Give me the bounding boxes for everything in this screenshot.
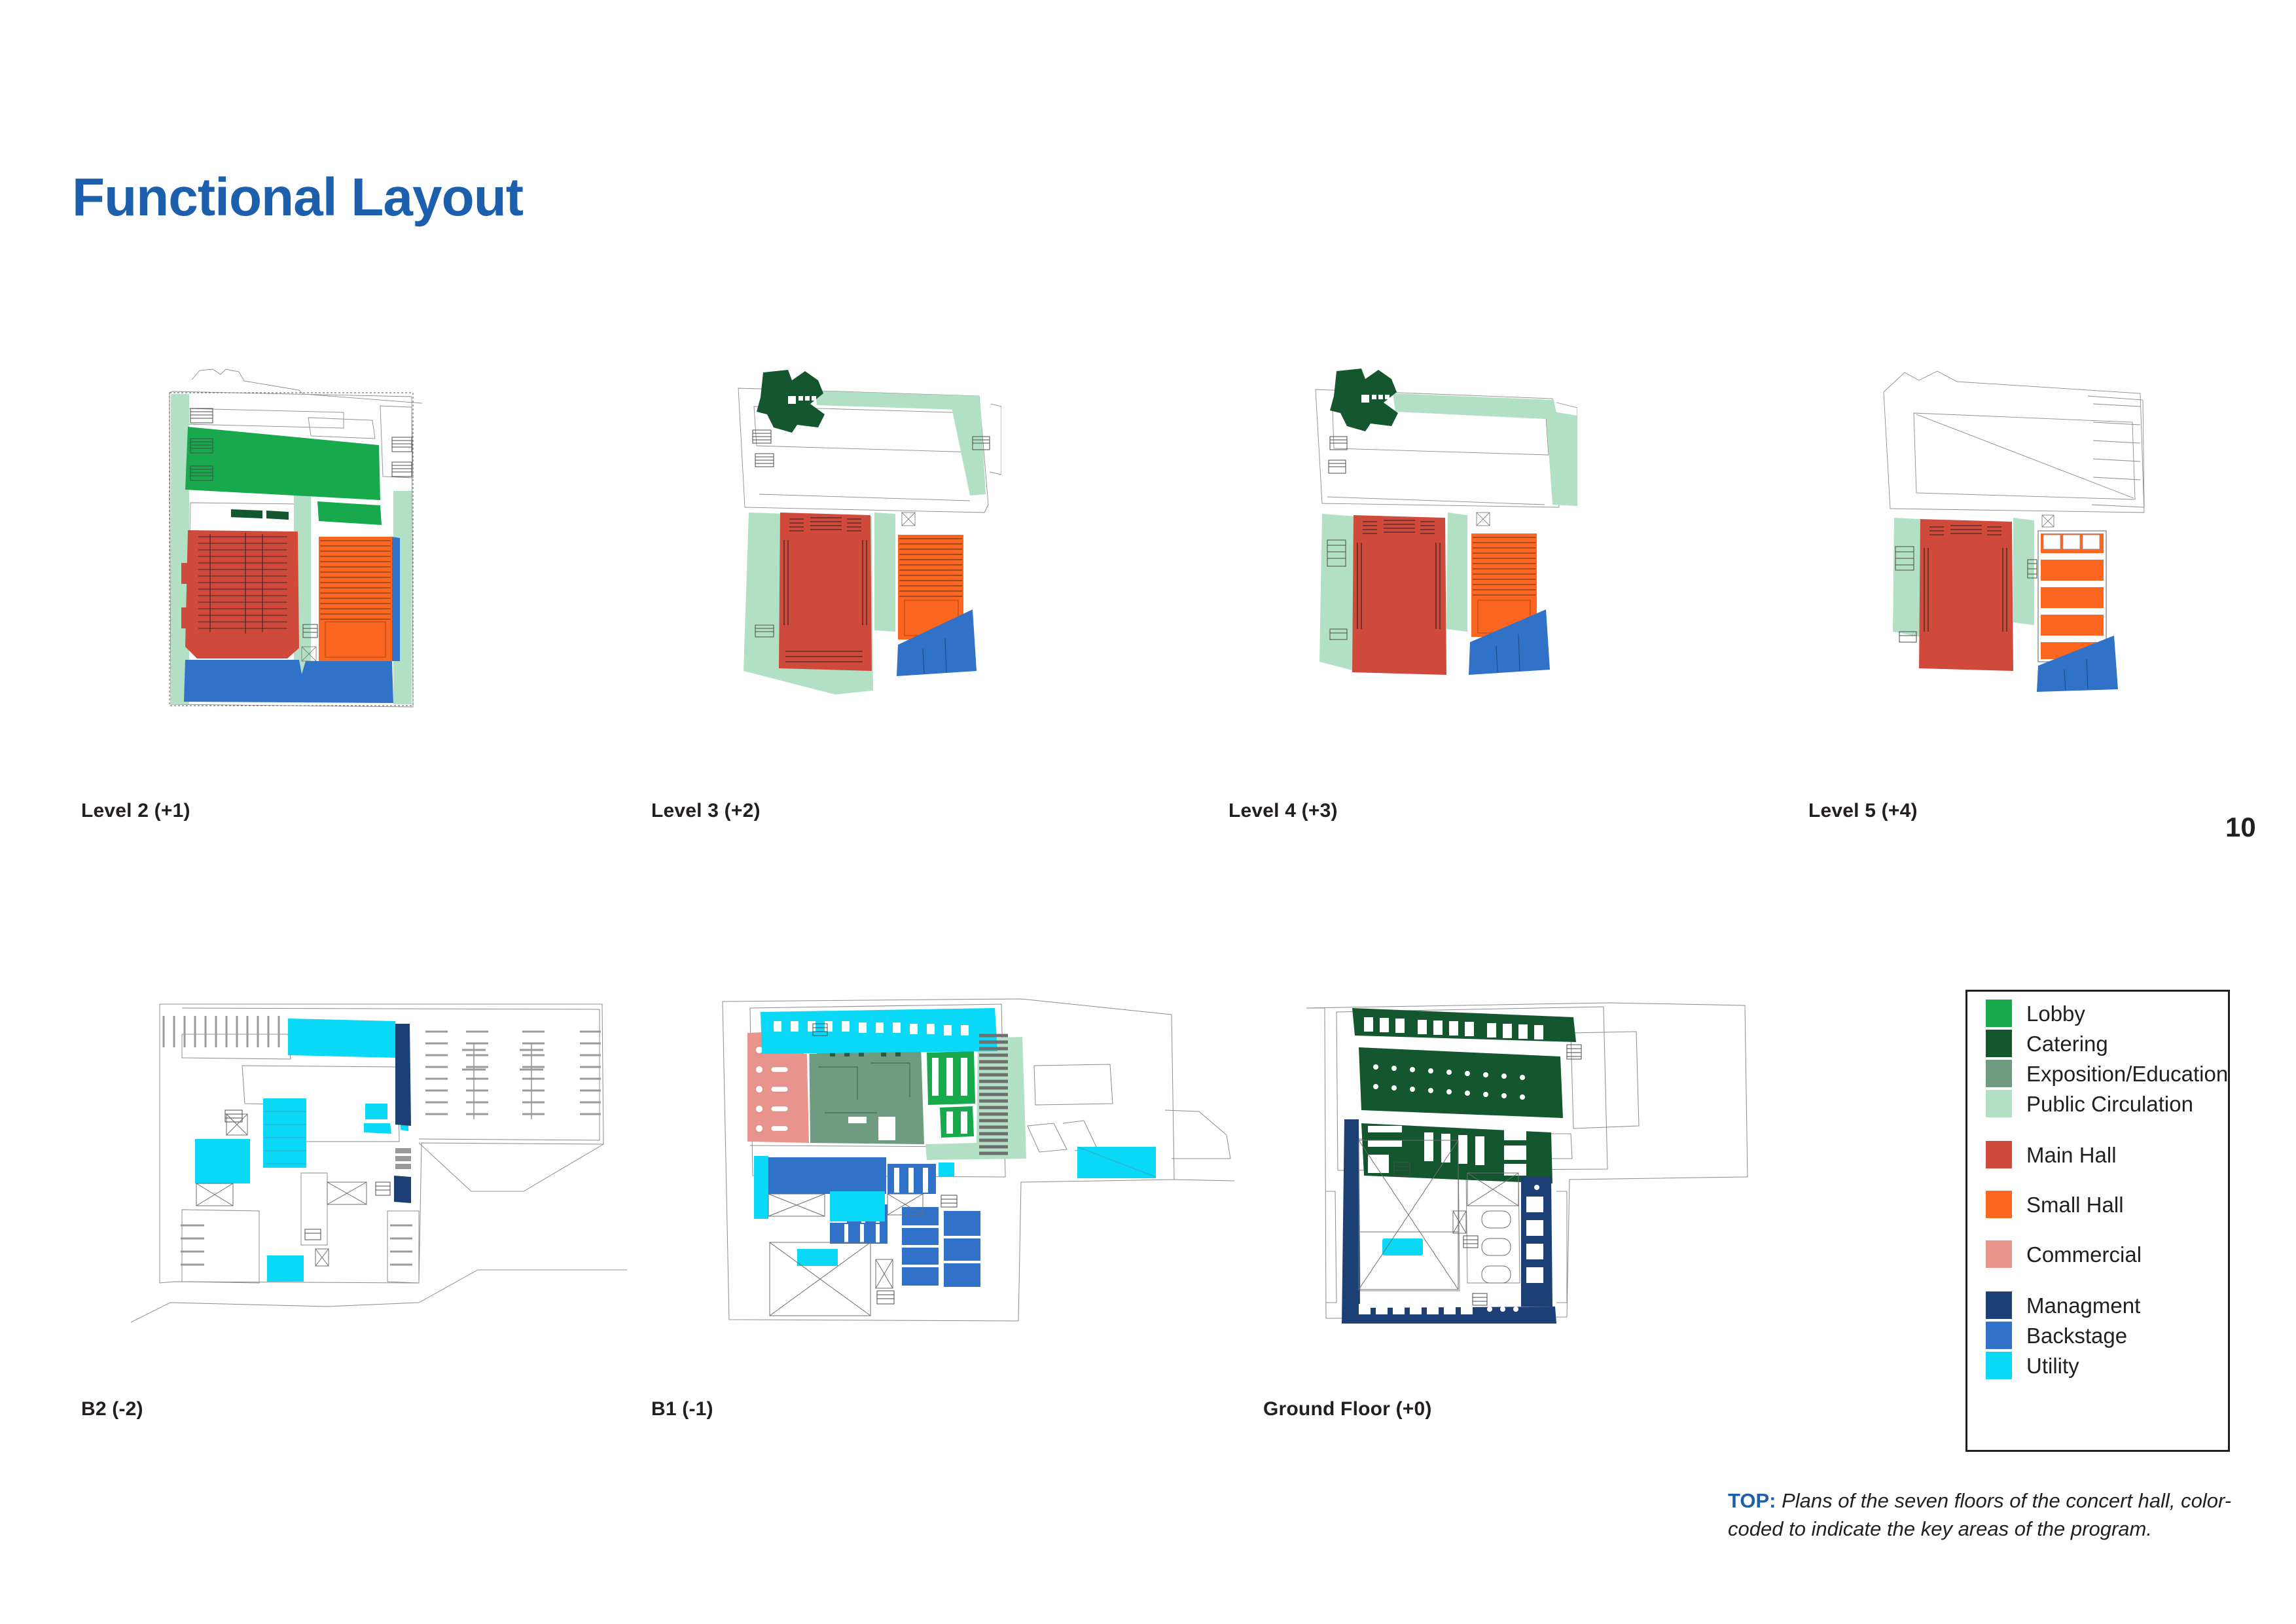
floor-plan-b1: [713, 995, 1237, 1329]
legend-label: Public Circulation: [2026, 1093, 2193, 1115]
legend-color-swatch: [1986, 1030, 2012, 1057]
legend-label: Main Hall: [2026, 1144, 2117, 1166]
legend-color-swatch: [1986, 1291, 2012, 1319]
legend-item: Public Circulation: [1986, 1089, 2193, 1119]
legend-color-swatch: [1986, 1000, 2012, 1027]
legend-label: Catering: [2026, 1033, 2108, 1055]
plan-label-b2: B2 (-2): [81, 1398, 143, 1420]
plan-label-level4: Level 4 (+3): [1229, 800, 1338, 822]
legend-label: Backstage: [2026, 1325, 2127, 1346]
legend-color-swatch: [1986, 1191, 2012, 1218]
floor-plan-level4: [1296, 344, 1577, 723]
legend-item: Backstage: [1986, 1320, 2127, 1350]
floor-plan-level5: [1865, 344, 2153, 723]
legend-label: Exposition/Education: [2026, 1063, 2228, 1085]
figure-caption: TOP: Plans of the seven floors of the co…: [1728, 1487, 2245, 1543]
legend-item: Lobby: [1986, 998, 2085, 1028]
legend-color-swatch: [1986, 1141, 2012, 1168]
floor-plan-level2: [147, 340, 429, 720]
legend-box: LobbyCateringExposition/EducationPublic …: [1965, 990, 2230, 1452]
legend-item: Exposition/Education: [1986, 1058, 2228, 1089]
plan-label-b1: B1 (-1): [651, 1398, 713, 1420]
legend-item: Utility: [1986, 1350, 2079, 1380]
legend-item: Managment: [1986, 1290, 2140, 1320]
legend-label: Commercial: [2026, 1244, 2142, 1265]
legend-color-swatch: [1986, 1240, 2012, 1268]
caption-lead: TOP:: [1728, 1489, 1776, 1512]
presentation-page: Functional Layout 10: [0, 0, 2296, 1624]
legend-item: Catering: [1986, 1028, 2108, 1058]
legend-color-swatch: [1986, 1352, 2012, 1379]
plan-label-level3: Level 3 (+2): [651, 800, 761, 822]
legend-label: Small Hall: [2026, 1194, 2124, 1216]
legend-item: Main Hall: [1986, 1140, 2117, 1170]
page-title: Functional Layout: [72, 167, 523, 228]
legend-color-swatch: [1986, 1090, 2012, 1117]
legend-item: Small Hall: [1986, 1189, 2124, 1219]
legend-label: Utility: [2026, 1355, 2079, 1377]
plan-label-level2: Level 2 (+1): [81, 800, 190, 822]
legend-color-swatch: [1986, 1060, 2012, 1087]
legend-label: Lobby: [2026, 1003, 2085, 1024]
page-number: 10: [2225, 812, 2256, 843]
legend-color-swatch: [1986, 1322, 2012, 1349]
legend-label: Managment: [2026, 1295, 2140, 1316]
floor-plan-ground: [1296, 995, 1761, 1335]
caption-text: Plans of the seven floors of the concert…: [1728, 1489, 2231, 1540]
plan-label-ground: Ground Floor (+0): [1263, 1398, 1432, 1420]
floor-plan-level3: [720, 344, 1001, 723]
floor-plan-b2: [131, 995, 628, 1342]
legend-item: Commercial: [1986, 1239, 2142, 1269]
plan-label-level5: Level 5 (+4): [1808, 800, 1918, 822]
